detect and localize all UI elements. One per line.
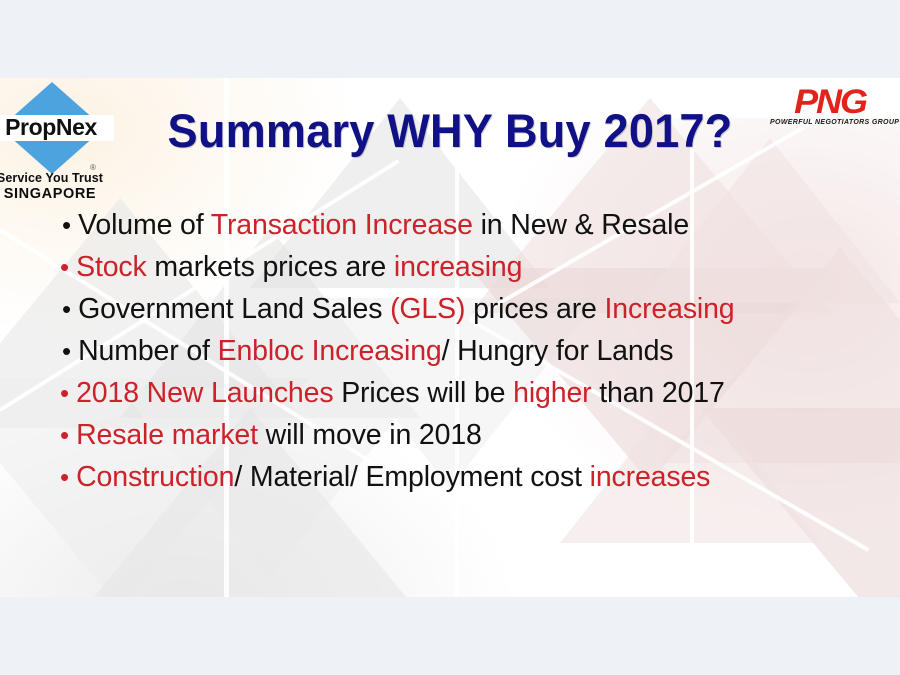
bullet-text: Stock markets prices are increasing <box>76 246 522 288</box>
bullet-segment: Number of <box>78 335 217 367</box>
bullet-segment: / Hungry for Lands <box>442 335 674 367</box>
bullet-segment: increasing <box>394 251 522 283</box>
bullet-segment: will move in 2018 <box>258 419 482 451</box>
bullet-dot-icon: • <box>60 372 69 414</box>
bullet-segment: in New & Resale <box>473 209 689 241</box>
propnex-country: SINGAPORE <box>0 186 110 202</box>
bullet-item: •Construction/ Material/ Employment cost… <box>52 456 852 498</box>
bullet-item: •Volume of Transaction Increase in New &… <box>52 204 852 246</box>
bullet-item: •Government Land Sales (GLS) prices are … <box>52 288 852 330</box>
png-wordmark: PNG <box>766 86 893 118</box>
propnex-wordmark: PropNex <box>0 113 114 141</box>
bullet-text: Resale market will move in 2018 <box>76 414 482 456</box>
bullet-text: Volume of Transaction Increase in New & … <box>78 204 689 246</box>
bullet-item: •Stock markets prices are increasing <box>52 246 852 288</box>
bullet-text: 2018 New Launches Prices will be higher … <box>76 372 725 414</box>
slide-canvas: PropNex ® Service You Trust SINGAPORE PN… <box>0 78 900 597</box>
propnex-tagline: Service You Trust <box>0 171 110 185</box>
bullet-segment: Volume of <box>78 209 211 241</box>
bullet-segment: Government Land Sales <box>78 293 390 325</box>
bullet-item: •Resale market will move in 2018 <box>52 414 852 456</box>
bullet-dot-icon: • <box>62 330 71 372</box>
bullet-dot-icon: • <box>62 288 71 330</box>
bullet-segment: increases <box>590 461 711 493</box>
bullet-dot-icon: • <box>62 204 71 246</box>
bullet-dot-icon: • <box>60 456 69 498</box>
bullet-dot-icon: • <box>60 246 69 288</box>
bullet-segment: markets prices are <box>147 251 394 283</box>
bullet-segment: higher <box>513 377 591 409</box>
slide-frame: PropNex ® Service You Trust SINGAPORE PN… <box>0 0 900 675</box>
bullet-item: •Number of Enbloc Increasing/ Hungry for… <box>52 330 852 372</box>
bullet-segment: Resale market <box>76 419 258 451</box>
bullet-segment: Increasing <box>605 293 735 325</box>
bullet-text: Government Land Sales (GLS) prices are I… <box>78 288 734 330</box>
page-title: Summary WHY Buy 2017? <box>133 104 767 158</box>
bullet-segment: Stock <box>76 251 147 283</box>
bullet-segment: Transaction Increase <box>211 209 473 241</box>
bullet-segment: than 2017 <box>591 377 724 409</box>
bullet-segment: Construction <box>76 461 234 493</box>
bullet-dot-icon: • <box>60 414 69 456</box>
png-logo: PNG POWERFUL NEGOTIATORS GROUP <box>770 86 890 128</box>
bullet-segment: 2018 New Launches <box>76 377 333 409</box>
propnex-logo: PropNex ® Service You Trust SINGAPORE <box>0 82 116 200</box>
bullet-text: Construction/ Material/ Employment cost … <box>76 456 710 498</box>
bullet-segment: Enbloc Increasing <box>218 335 442 367</box>
bullet-segment: Prices will be <box>333 377 513 409</box>
bullet-segment: prices are <box>465 293 604 325</box>
bullet-item: •2018 New Launches Prices will be higher… <box>52 372 852 414</box>
bullet-text: Number of Enbloc Increasing/ Hungry for … <box>78 330 673 372</box>
bullet-segment: / Material/ Employment cost <box>234 461 589 493</box>
bullet-list: •Volume of Transaction Increase in New &… <box>52 204 852 498</box>
bullet-segment: (GLS) <box>390 293 465 325</box>
